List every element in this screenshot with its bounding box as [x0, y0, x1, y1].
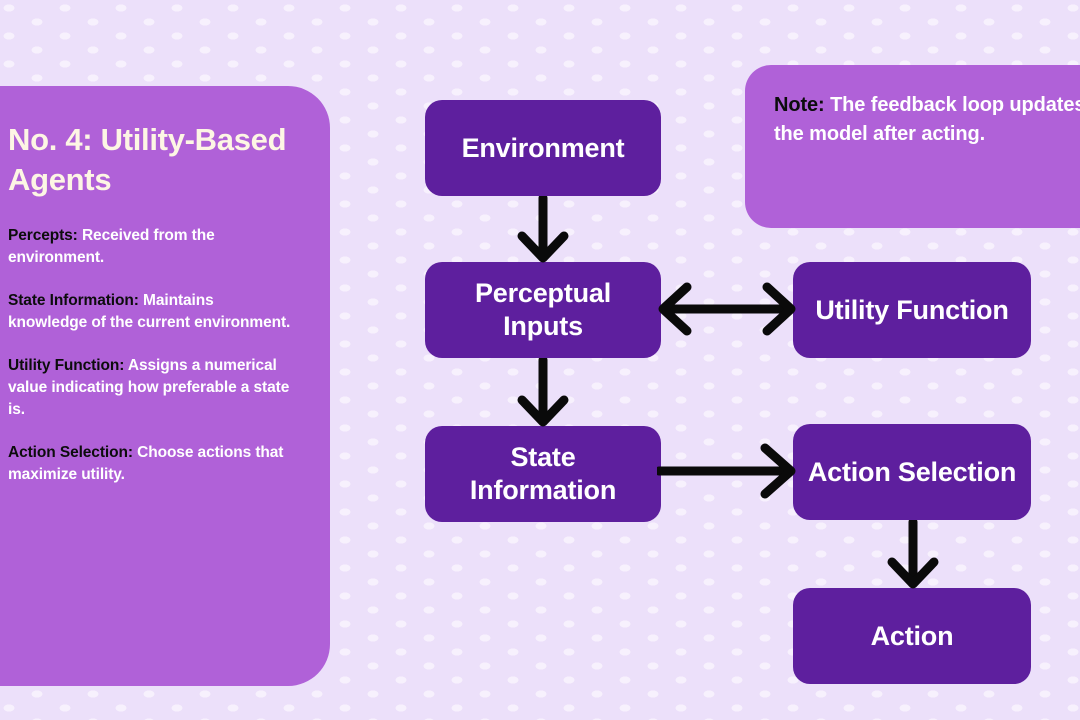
- sidebar-bullet-utility-function: Utility Function: Assigns a numerical va…: [8, 355, 294, 421]
- arrow-down-action-selection-to-action: [878, 520, 948, 590]
- arrow-right-state-information-to-action-selection: [657, 440, 797, 502]
- note-label: Note:: [774, 94, 825, 116]
- bullet-label-action-selection: Action Selection:: [8, 444, 133, 461]
- node-label-environment: Environment: [462, 132, 625, 165]
- sidebar-bullet-action-selection: Action Selection: Choose actions that ma…: [8, 442, 294, 486]
- node-label-action: Action: [871, 620, 954, 653]
- node-environment[interactable]: Environment: [425, 100, 661, 196]
- node-label-utility-function: Utility Function: [815, 294, 1008, 327]
- node-action[interactable]: Action: [793, 588, 1031, 684]
- arrow-down-perceptual-inputs-to-state-information: [508, 358, 578, 428]
- node-label-perceptual-inputs: Perceptual Inputs: [435, 277, 651, 343]
- note-panel: Note: The feedback loop updates the mode…: [745, 65, 1080, 228]
- page-title: No. 4: Utility-Based Agents: [8, 120, 294, 199]
- sidebar-panel: No. 4: Utility-Based Agents Percepts: Re…: [0, 86, 330, 686]
- node-state-information[interactable]: State Information: [425, 426, 661, 522]
- note-text: Note: The feedback loop updates the mode…: [774, 91, 1080, 149]
- bullet-label-utility-function: Utility Function:: [8, 357, 124, 374]
- infographic-canvas: No. 4: Utility-Based Agents Percepts: Re…: [0, 0, 1080, 720]
- bullet-label-percepts: Percepts:: [8, 227, 78, 244]
- node-label-action-selection: Action Selection: [808, 456, 1016, 489]
- node-action-selection[interactable]: Action Selection: [793, 424, 1031, 520]
- bullet-label-state-information: State Information:: [8, 292, 139, 309]
- node-utility-function[interactable]: Utility Function: [793, 262, 1031, 358]
- node-label-state-information: State Information: [435, 441, 651, 507]
- arrow-bidirectional-perceptual-inputs-utility-function: [657, 278, 797, 340]
- sidebar-bullet-state-information: State Information: Maintains knowledge o…: [8, 290, 294, 334]
- node-perceptual-inputs[interactable]: Perceptual Inputs: [425, 262, 661, 358]
- arrow-down-environment-to-perceptual-inputs: [508, 196, 578, 264]
- sidebar-bullet-percepts: Percepts: Received from the environment.: [8, 225, 294, 269]
